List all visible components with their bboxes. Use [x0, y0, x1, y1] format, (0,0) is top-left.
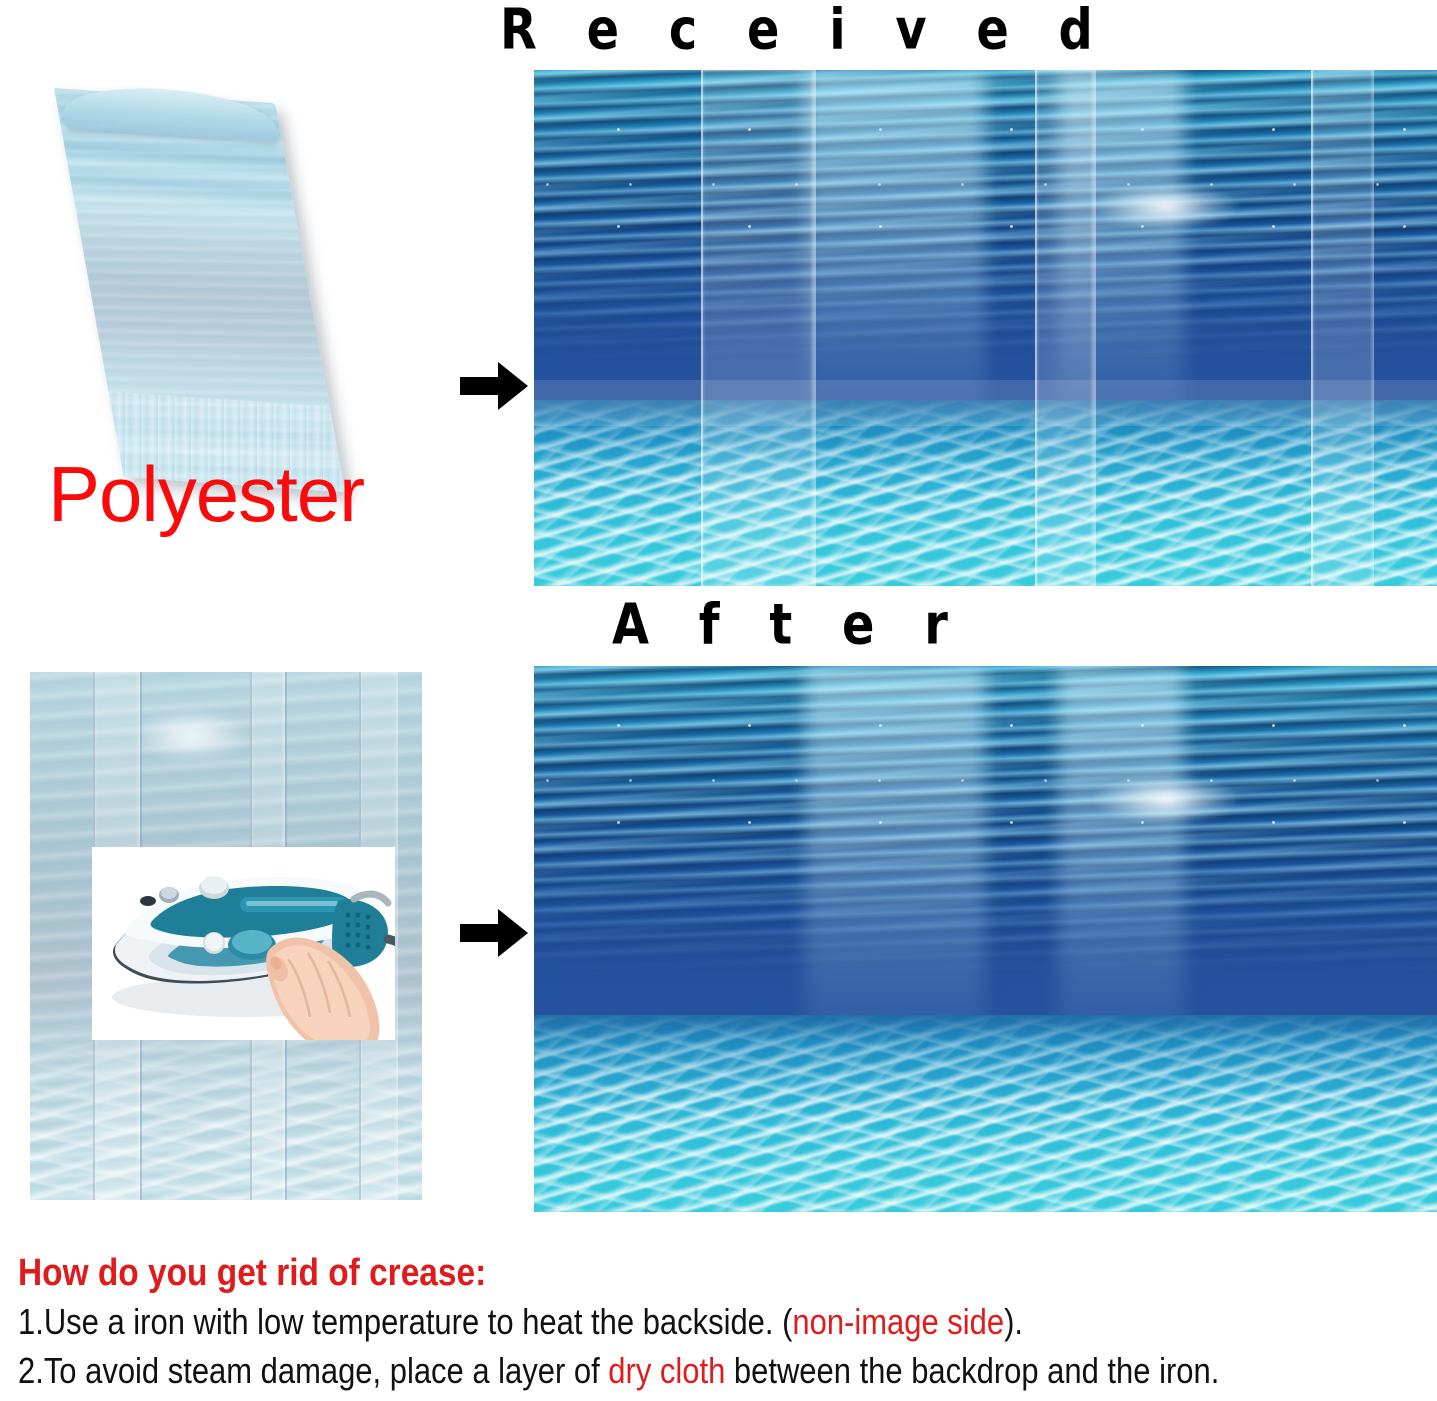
- instruction-step-2: 2.To avoid steam damage, place a layer o…: [18, 1348, 1231, 1393]
- step-2-suffix: between the backdrop and the iron.: [725, 1350, 1219, 1391]
- received-backdrop-image: [534, 70, 1437, 586]
- fabric-sheet: [54, 88, 345, 492]
- bubbles: [534, 666, 1437, 884]
- care-instructions: How do you get rid of crease: 1.Use a ir…: [18, 1252, 1428, 1393]
- polyester-label: Polyester: [48, 455, 364, 533]
- after-heading: A f t e r: [612, 597, 964, 653]
- step-2-prefix: 2.To avoid steam damage, place a layer o…: [18, 1350, 608, 1391]
- step-1-highlight: non-image side: [792, 1301, 1004, 1342]
- ironing-demo-image: [30, 672, 422, 1200]
- arrow-right-icon: [458, 358, 530, 414]
- arrow-right-icon: [458, 905, 530, 961]
- received-heading: R e c e i v e d: [500, 2, 1109, 58]
- steam-iron-photo: [92, 847, 395, 1040]
- light-caustics: [30, 1020, 422, 1200]
- bubbles: [534, 70, 1437, 276]
- sun-highlight: [1094, 184, 1238, 230]
- sun-highlight: [132, 709, 250, 762]
- light-caustics: [534, 1015, 1437, 1212]
- after-backdrop-image: [534, 666, 1437, 1212]
- polyester-fabric-sample: [14, 78, 414, 498]
- instruction-step-1: 1.Use a iron with low temperature to hea…: [18, 1299, 1231, 1344]
- light-caustics: [534, 400, 1437, 586]
- step-2-highlight: dry cloth: [608, 1350, 725, 1391]
- step-1-prefix: 1.Use a iron with low temperature to hea…: [18, 1301, 792, 1342]
- instructions-heading: How do you get rid of crease:: [18, 1252, 1259, 1295]
- step-1-suffix: ).: [1004, 1301, 1023, 1342]
